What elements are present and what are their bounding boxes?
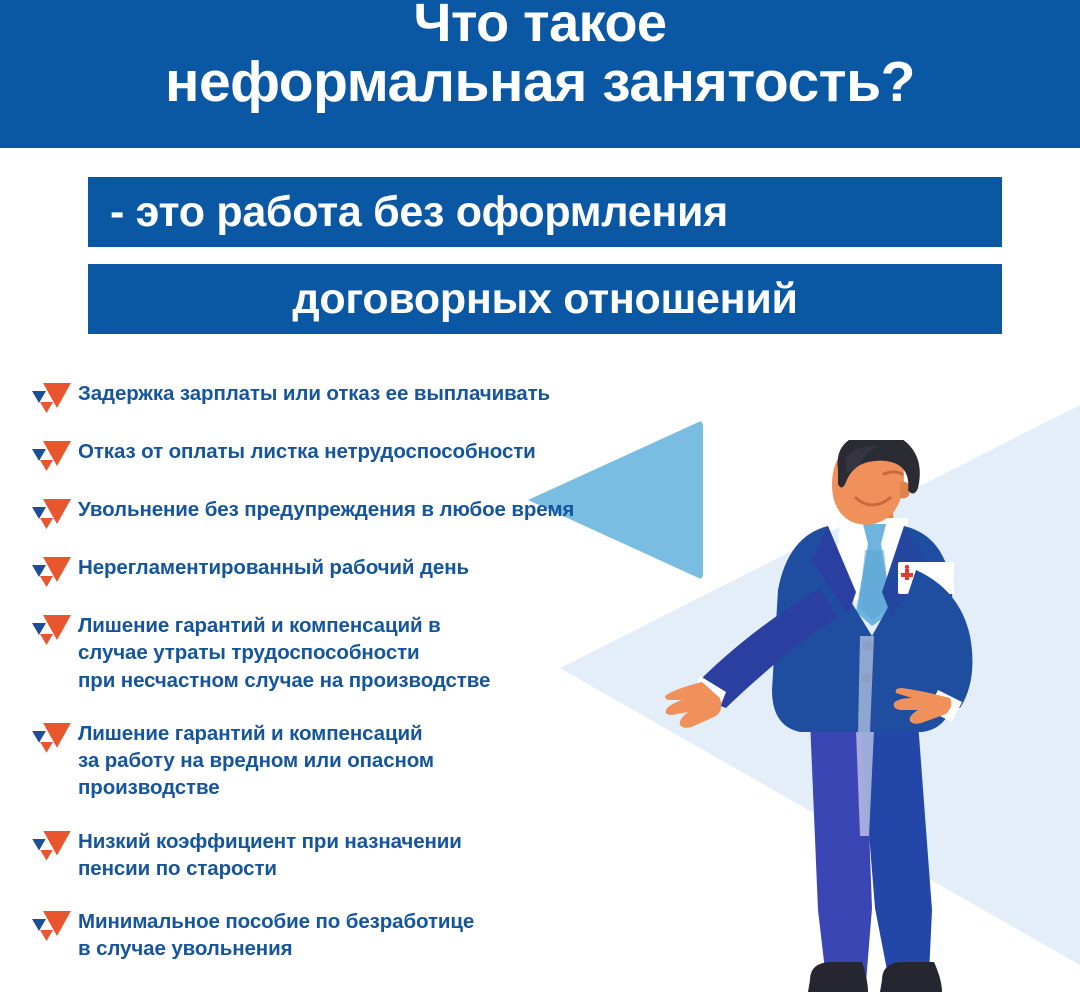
businessman-illustration <box>660 440 1080 992</box>
left-shoe <box>808 962 868 992</box>
subtitle-bar-second: договорных отношений <box>88 264 1002 334</box>
subtitle-bar-first: - это работа без оформления <box>88 177 1002 247</box>
list-item: Лишение гарантий и компенсаций за работу… <box>0 720 700 802</box>
consequences-list: Задержка зарплаты или отказ ее выплачива… <box>0 380 700 985</box>
triangle-bullet-icon <box>30 830 70 864</box>
list-item-label: Лишение гарантий и компенсаций в случае … <box>78 612 490 694</box>
triangle-bullet-icon <box>30 614 70 648</box>
list-item: Лишение гарантий и компенсаций в случае … <box>0 612 700 694</box>
list-item: Нерегламентированный рабочий день <box>0 554 700 590</box>
triangle-bullet-icon <box>30 382 70 416</box>
list-item-label: Лишение гарантий и компенсаций за работу… <box>78 720 434 802</box>
triangle-bullet-icon <box>30 498 70 532</box>
header-title-line-2: неформальная занятость? <box>165 53 915 111</box>
right-shoe <box>880 962 942 992</box>
list-item-label: Отказ от оплаты листка нетрудоспособност… <box>78 438 536 465</box>
triangle-bullet-icon <box>30 440 70 474</box>
subtitle-text-second: договорных отношений <box>292 278 797 321</box>
subtitle-text-first: - это работа без оформления <box>110 191 728 234</box>
list-item: Задержка зарплаты или отказ ее выплачива… <box>0 380 700 416</box>
infographic-poster: Что такое неформальная занятость? - это … <box>0 0 1080 992</box>
triangle-bullet-icon <box>30 722 70 756</box>
list-item-label: Минимальное пособие по безработице в слу… <box>78 908 474 963</box>
list-item: Минимальное пособие по безработице в слу… <box>0 908 700 963</box>
header-banner: Что такое неформальная занятость? <box>0 0 1080 148</box>
list-item-label: Увольнение без предупреждения в любое вр… <box>78 496 574 523</box>
list-item: Отказ от оплаты листка нетрудоспособност… <box>0 438 700 474</box>
header-title-line-1: Что такое <box>414 0 667 51</box>
list-item-label: Нерегламентированный рабочий день <box>78 554 469 581</box>
list-item: Низкий коэффициент при назначении пенсии… <box>0 828 700 883</box>
list-item: Увольнение без предупреждения в любое вр… <box>0 496 700 532</box>
triangle-bullet-icon <box>30 910 70 944</box>
list-item-label: Низкий коэффициент при назначении пенсии… <box>78 828 462 883</box>
triangle-bullet-icon <box>30 556 70 590</box>
list-item-label: Задержка зарплаты или отказ ее выплачива… <box>78 380 550 407</box>
